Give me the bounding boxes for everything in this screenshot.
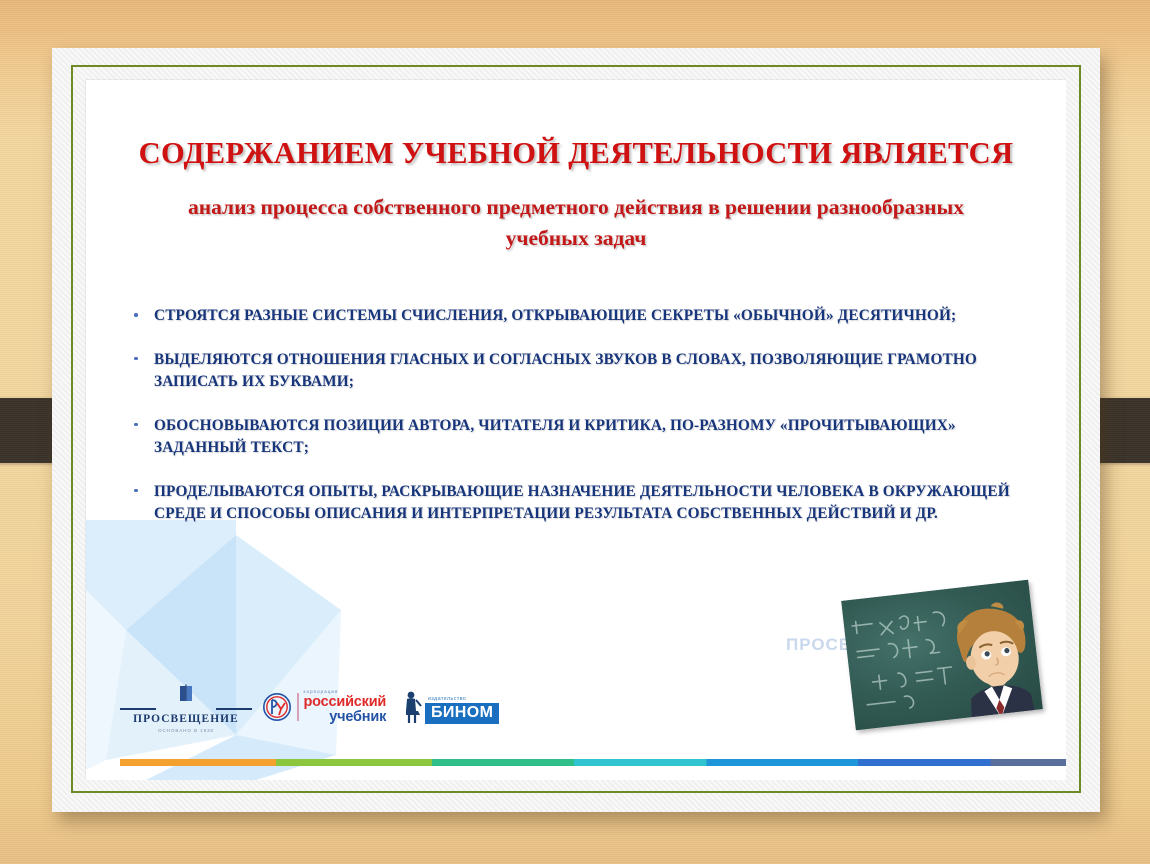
logo-line-2: учебник <box>304 710 387 725</box>
logo-binom: издательство БИНОМ <box>400 684 510 724</box>
list-item-text: ВЫДЕЛЯЮТСЯ ОТНОШЕНИЯ ГЛАСНЫХ И СОГЛАСНЫХ… <box>154 351 977 391</box>
seated-figure-icon <box>400 690 422 724</box>
binom-wordmark: издательство БИНОМ <box>425 697 499 724</box>
slide-title: СОДЕРЖАНИЕМ УЧЕБНОЙ ДЕЯТЕЛЬНОСТИ ЯВЛЯЕТС… <box>126 136 1026 171</box>
rainbow-strip <box>120 759 1066 766</box>
list-item-text: СТРОЯТСЯ РАЗНЫЕ СИСТЕМЫ СЧИСЛЕНИЯ, ОТКРЫ… <box>154 307 956 324</box>
list-item: ВЫДЕЛЯЮТСЯ ОТНОШЕНИЯ ГЛАСНЫХ И СОГЛАСНЫХ… <box>128 349 1040 394</box>
publisher-logo-row: ПРОСВЕЩЕНИЕ ОСНОВАНО В 1930 корпорация р… <box>112 684 492 742</box>
logo-rossiyskiy-uchebnik: корпорация российский учебник <box>262 684 388 724</box>
binom-publisher-label: издательство <box>425 697 499 702</box>
logo-prosveshchenie: ПРОСВЕЩЕНИЕ ОСНОВАНО В 1930 <box>120 684 252 733</box>
logo-wordmark: корпорация российский учебник <box>304 690 387 724</box>
bullet-list: СТРОЯТСЯ РАЗНЫЕ СИСТЕМЫ СЧИСЛЕНИЯ, ОТКРЫ… <box>128 305 1040 547</box>
boy-figure <box>936 595 1042 724</box>
list-item-text: ОБОСНОВЫВАЮТСЯ ПОЗИЦИИ АВТОРА, ЧИТАТЕЛЯ … <box>154 417 956 457</box>
bullet-dot-icon <box>134 489 138 493</box>
slide-card: ПРОСВЕЩЕНИЕ СОДЕРЖАНИЕМ УЧЕБНОЙ ДЕЯТЕЛЬН… <box>52 48 1100 812</box>
slide-subtitle: анализ процесса собственного предметного… <box>176 192 976 254</box>
list-item: ОБОСНОВЫВАЮТСЯ ПОЗИЦИИ АВТОРА, ЧИТАТЕЛЯ … <box>128 415 1040 460</box>
logo-established: ОСНОВАНО В 1930 <box>120 728 252 733</box>
list-item: СТРОЯТСЯ РАЗНЫЕ СИСТЕМЫ СЧИСЛЕНИЯ, ОТКРЫ… <box>128 305 1040 328</box>
slide-content-area: ПРОСВЕЩЕНИЕ СОДЕРЖАНИЕМ УЧЕБНОЙ ДЕЯТЕЛЬН… <box>86 80 1066 780</box>
book-mark-icon <box>178 684 194 703</box>
ru-monogram-icon <box>262 692 292 722</box>
list-item-text: ПРОДЕЛЫВАЮТСЯ ОПЫТЫ, РАСКРЫВАЮЩИЕ НАЗНАЧ… <box>154 483 1010 523</box>
chalkboard-photo <box>841 580 1043 730</box>
logo-rules <box>120 704 252 713</box>
list-item: ПРОДЕЛЫВАЮТСЯ ОПЫТЫ, РАСКРЫВАЮЩИЕ НАЗНАЧ… <box>128 481 1040 526</box>
logo-divider <box>297 693 299 721</box>
bullet-dot-icon <box>134 313 138 317</box>
logo-name: ПРОСВЕЩЕНИЕ <box>120 713 252 726</box>
bullet-dot-icon <box>134 423 138 427</box>
bullet-dot-icon <box>134 357 138 361</box>
binom-name: БИНОМ <box>425 703 499 724</box>
logo-line-1: российский <box>304 695 387 710</box>
